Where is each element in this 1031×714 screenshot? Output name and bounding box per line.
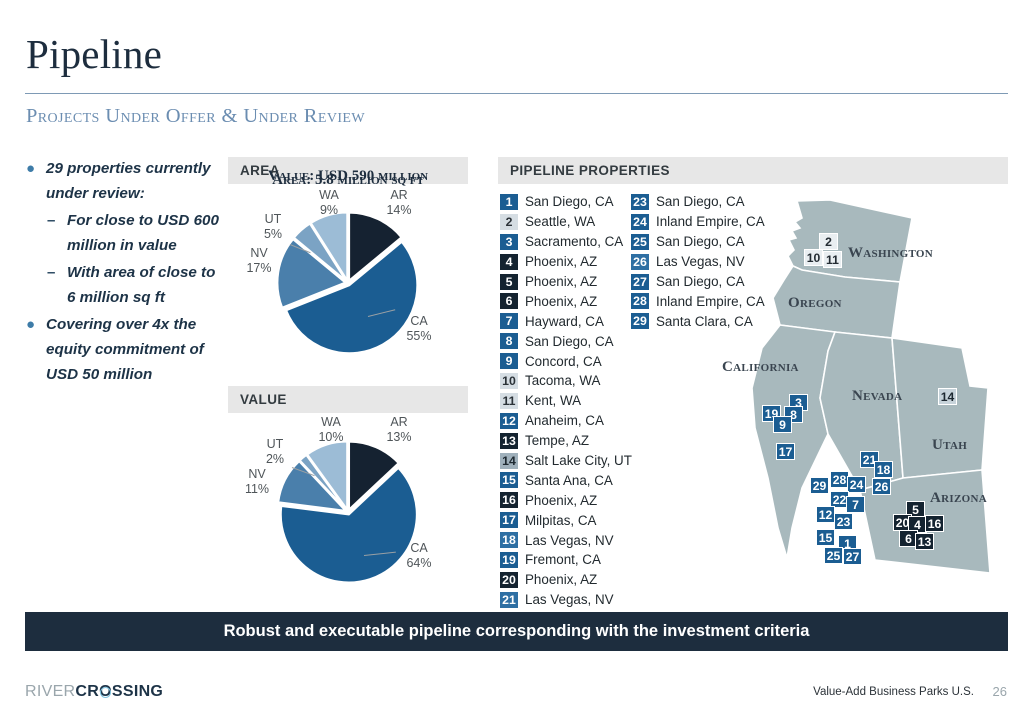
property-row[interactable]: 9Concord, CA	[500, 351, 632, 371]
pie-label-category: NV	[250, 246, 267, 260]
property-row[interactable]: 19Fremont, CA	[500, 550, 632, 570]
bullet-icon: ●	[26, 312, 46, 387]
rivercrossing-logo: RIVERCROSSING	[25, 683, 163, 701]
property-row[interactable]: 10Tacoma, WA	[500, 371, 632, 391]
property-row[interactable]: 6Phoenix, AZ	[500, 291, 632, 311]
footer-subtitle: Value-Add Business Parks U.S.	[813, 686, 974, 698]
pie-label-ut: UT2%	[252, 437, 298, 467]
pie-label-wa: WA9%	[306, 188, 352, 218]
map-pin[interactable]: 25	[824, 547, 843, 564]
map-pin[interactable]: 27	[843, 548, 862, 565]
pie-label-category: AR	[390, 188, 407, 202]
property-index-badge: 1	[500, 194, 518, 210]
logo-o-icon: O	[99, 683, 112, 700]
pie-label-category: UT	[265, 212, 282, 226]
pie-label-value: 5%	[264, 227, 282, 241]
property-index-badge: 4	[500, 254, 518, 270]
property-location-label: Hayward, CA	[525, 314, 604, 329]
page-title: Pipeline	[26, 30, 162, 78]
state-label: Nevada	[852, 388, 902, 405]
property-row[interactable]: 4Phoenix, AZ	[500, 252, 632, 272]
logo-river-text: RIVER	[25, 683, 75, 700]
pie-label-category: CA	[410, 314, 427, 328]
value-panel-header: VALUE	[228, 386, 468, 413]
properties-column-1: 1San Diego, CA2Seattle, WA3Sacramento, C…	[500, 192, 632, 630]
bullet-text: For close to USD 600 million in value	[67, 208, 222, 258]
bullet-text: 29 properties currently under review:	[46, 156, 222, 206]
property-index-badge: 20	[500, 572, 518, 588]
property-index-badge: 28	[631, 293, 649, 309]
bullet-list: ●29 properties currently under review:–F…	[26, 156, 222, 389]
property-location-label: Salt Lake City, UT	[525, 453, 632, 468]
property-row[interactable]: 11Kent, WA	[500, 391, 632, 411]
pie-label-wa: WA10%	[308, 415, 354, 445]
pie-label-category: AR	[390, 415, 407, 429]
property-location-label: Kent, WA	[525, 393, 581, 408]
state-utah	[892, 338, 988, 478]
property-row[interactable]: 5Phoenix, AZ	[500, 272, 632, 292]
property-row[interactable]: 7Hayward, CA	[500, 311, 632, 331]
page-number: 26	[993, 684, 1007, 699]
map-pin[interactable]: 17	[776, 443, 795, 460]
map-pin[interactable]: 9	[773, 416, 792, 433]
property-location-label: San Diego, CA	[525, 334, 614, 349]
logo-cr-text: CR	[75, 683, 99, 700]
pie-label-value: 14%	[386, 203, 411, 217]
property-index-badge: 13	[500, 433, 518, 449]
property-index-badge: 8	[500, 333, 518, 349]
area-pie-chart: AR14%WA9%UT5%NV17%CA55%	[228, 186, 468, 381]
summary-banner: Robust and executable pipeline correspon…	[25, 612, 1008, 651]
bullet-item: –For close to USD 600 million in value	[47, 208, 222, 258]
property-location-label: San Diego, CA	[656, 234, 745, 249]
property-location-label: Sacramento, CA	[525, 234, 623, 249]
map-pin[interactable]: 13	[915, 533, 934, 550]
property-location-label: Phoenix, AZ	[525, 294, 597, 309]
property-location-label: Seattle, WA	[525, 214, 595, 229]
property-index-badge: 23	[631, 194, 649, 210]
property-location-label: Tacoma, WA	[525, 373, 600, 388]
dash-icon: –	[47, 208, 67, 258]
property-row[interactable]: 2Seattle, WA	[500, 212, 632, 232]
property-location-label: Phoenix, AZ	[525, 254, 597, 269]
property-index-badge: 14	[500, 453, 518, 469]
us-west-map: WashingtonOregonCaliforniaNevadaUtahAriz…	[740, 188, 1030, 588]
bullet-text: With area of close to 6 million sq ft	[67, 260, 222, 310]
property-location-label: Phoenix, AZ	[525, 274, 597, 289]
page-subtitle: Projects Under Offer & Under Review	[26, 105, 365, 128]
property-index-badge: 16	[500, 492, 518, 508]
state-label: Arizona	[930, 490, 987, 507]
property-index-badge: 29	[631, 313, 649, 329]
property-index-badge: 9	[500, 353, 518, 369]
map-pin[interactable]: 12	[816, 506, 835, 523]
property-index-badge: 19	[500, 552, 518, 568]
map-pin[interactable]: 23	[834, 513, 853, 530]
property-index-badge: 18	[500, 532, 518, 548]
map-pin[interactable]: 11	[823, 251, 842, 268]
property-index-badge: 5	[500, 274, 518, 290]
property-location-label: Las Vegas, NV	[525, 592, 614, 607]
bullet-icon: ●	[26, 156, 46, 206]
bullet-text: Covering over 4x the equity commitment o…	[46, 312, 222, 387]
property-location-label: Phoenix, AZ	[525, 493, 597, 508]
map-pin[interactable]: 10	[804, 249, 823, 266]
pie-label-value: 13%	[386, 430, 411, 444]
pie-label-value: 10%	[318, 430, 343, 444]
property-index-badge: 24	[631, 214, 649, 230]
bullet-item: –With area of close to 6 million sq ft	[47, 260, 222, 310]
pie-label-category: CA	[410, 541, 427, 555]
pie-label-value: 9%	[320, 203, 338, 217]
map-pin[interactable]: 24	[847, 476, 866, 493]
pie-label-nv: NV11%	[234, 467, 280, 497]
pie-label-value: 17%	[246, 261, 271, 275]
property-row[interactable]: 15Santa Ana, CA	[500, 470, 632, 490]
pie-label-value: 64%	[406, 556, 431, 570]
map-pin[interactable]: 29	[810, 477, 829, 494]
pie-label-value: 11%	[245, 482, 269, 496]
property-index-badge: 2	[500, 214, 518, 230]
pie-label-ca: CA55%	[396, 314, 442, 344]
property-row[interactable]: 3Sacramento, CA	[500, 232, 632, 252]
property-row[interactable]: 14Salt Lake City, UT	[500, 451, 632, 471]
map-pin[interactable]: 14	[938, 388, 957, 405]
property-row[interactable]: 13Tempe, AZ	[500, 431, 632, 451]
property-location-label: Milpitas, CA	[525, 513, 596, 528]
map-pin[interactable]: 16	[925, 515, 944, 532]
property-index-badge: 12	[500, 413, 518, 429]
property-location-label: Santa Ana, CA	[525, 473, 613, 488]
property-row[interactable]: 1San Diego, CA	[500, 192, 632, 212]
logo-ssing-text: SSING	[112, 683, 163, 700]
pie-label-ar: AR13%	[376, 415, 422, 445]
map-pin[interactable]: 18	[874, 461, 893, 478]
pie-label-ut: UT5%	[250, 212, 296, 242]
pipeline-properties-header: PIPELINE PROPERTIES	[498, 157, 1008, 184]
property-index-badge: 25	[631, 234, 649, 250]
property-row[interactable]: 17Milpitas, CA	[500, 510, 632, 530]
property-index-badge: 10	[500, 373, 518, 389]
property-row[interactable]: 21Las Vegas, NV	[500, 590, 632, 610]
property-location-label: Las Vegas, NV	[525, 533, 614, 548]
property-row[interactable]: 8San Diego, CA	[500, 331, 632, 351]
property-row[interactable]: 18Las Vegas, NV	[500, 530, 632, 550]
pie-label-category: WA	[319, 188, 339, 202]
property-row[interactable]: 20Phoenix, AZ	[500, 570, 632, 590]
bullet-item: ●29 properties currently under review:	[26, 156, 222, 206]
map-pin[interactable]: 7	[846, 496, 865, 513]
dash-icon: –	[47, 260, 67, 310]
map-pin[interactable]: 2	[819, 233, 838, 250]
property-index-badge: 15	[500, 472, 518, 488]
state-label: Washington	[848, 245, 933, 262]
property-index-badge: 17	[500, 512, 518, 528]
map-pin[interactable]: 26	[872, 478, 891, 495]
property-location-label: San Diego, CA	[525, 194, 614, 209]
pie-label-category: NV	[248, 467, 265, 481]
property-location-label: Concord, CA	[525, 354, 602, 369]
state-label: Utah	[932, 437, 967, 454]
pie-label-nv: NV17%	[236, 246, 282, 276]
property-location-label: Phoenix, AZ	[525, 572, 597, 587]
property-location-label: San Diego, CA	[656, 274, 745, 289]
property-row[interactable]: 12Anaheim, CA	[500, 411, 632, 431]
property-index-badge: 3	[500, 234, 518, 250]
property-index-badge: 21	[500, 592, 518, 608]
state-label: Oregon	[788, 295, 842, 312]
property-index-badge: 11	[500, 393, 518, 409]
property-location-label: Fremont, CA	[525, 552, 601, 567]
pie-label-value: 2%	[266, 452, 284, 466]
bullet-item: ●Covering over 4x the equity commitment …	[26, 312, 222, 387]
property-index-badge: 26	[631, 254, 649, 270]
pie-label-value: 55%	[406, 329, 431, 343]
property-location-label: Santa Clara, CA	[656, 314, 753, 329]
property-location-label: Las Vegas, NV	[656, 254, 745, 269]
pie-label-category: WA	[321, 415, 341, 429]
property-row[interactable]: 16Phoenix, AZ	[500, 490, 632, 510]
property-index-badge: 7	[500, 313, 518, 329]
value-chart-caption: Value: USD 590 million	[228, 168, 468, 185]
slide: Pipeline Projects Under Offer & Under Re…	[0, 0, 1031, 714]
state-label: California	[722, 359, 799, 376]
pie-label-ar: AR14%	[376, 188, 422, 218]
property-index-badge: 27	[631, 274, 649, 290]
property-index-badge: 6	[500, 293, 518, 309]
value-pie-chart: AR13%WA10%UT2%NV11%CA64%	[228, 415, 468, 605]
map-pin[interactable]: 15	[816, 529, 835, 546]
property-location-label: Tempe, AZ	[525, 433, 589, 448]
property-location-label: Anaheim, CA	[525, 413, 604, 428]
state-washington	[788, 200, 912, 282]
pie-label-ca: CA64%	[396, 541, 442, 571]
property-location-label: San Diego, CA	[656, 194, 745, 209]
pie-label-category: UT	[267, 437, 284, 451]
title-divider	[25, 93, 1008, 94]
